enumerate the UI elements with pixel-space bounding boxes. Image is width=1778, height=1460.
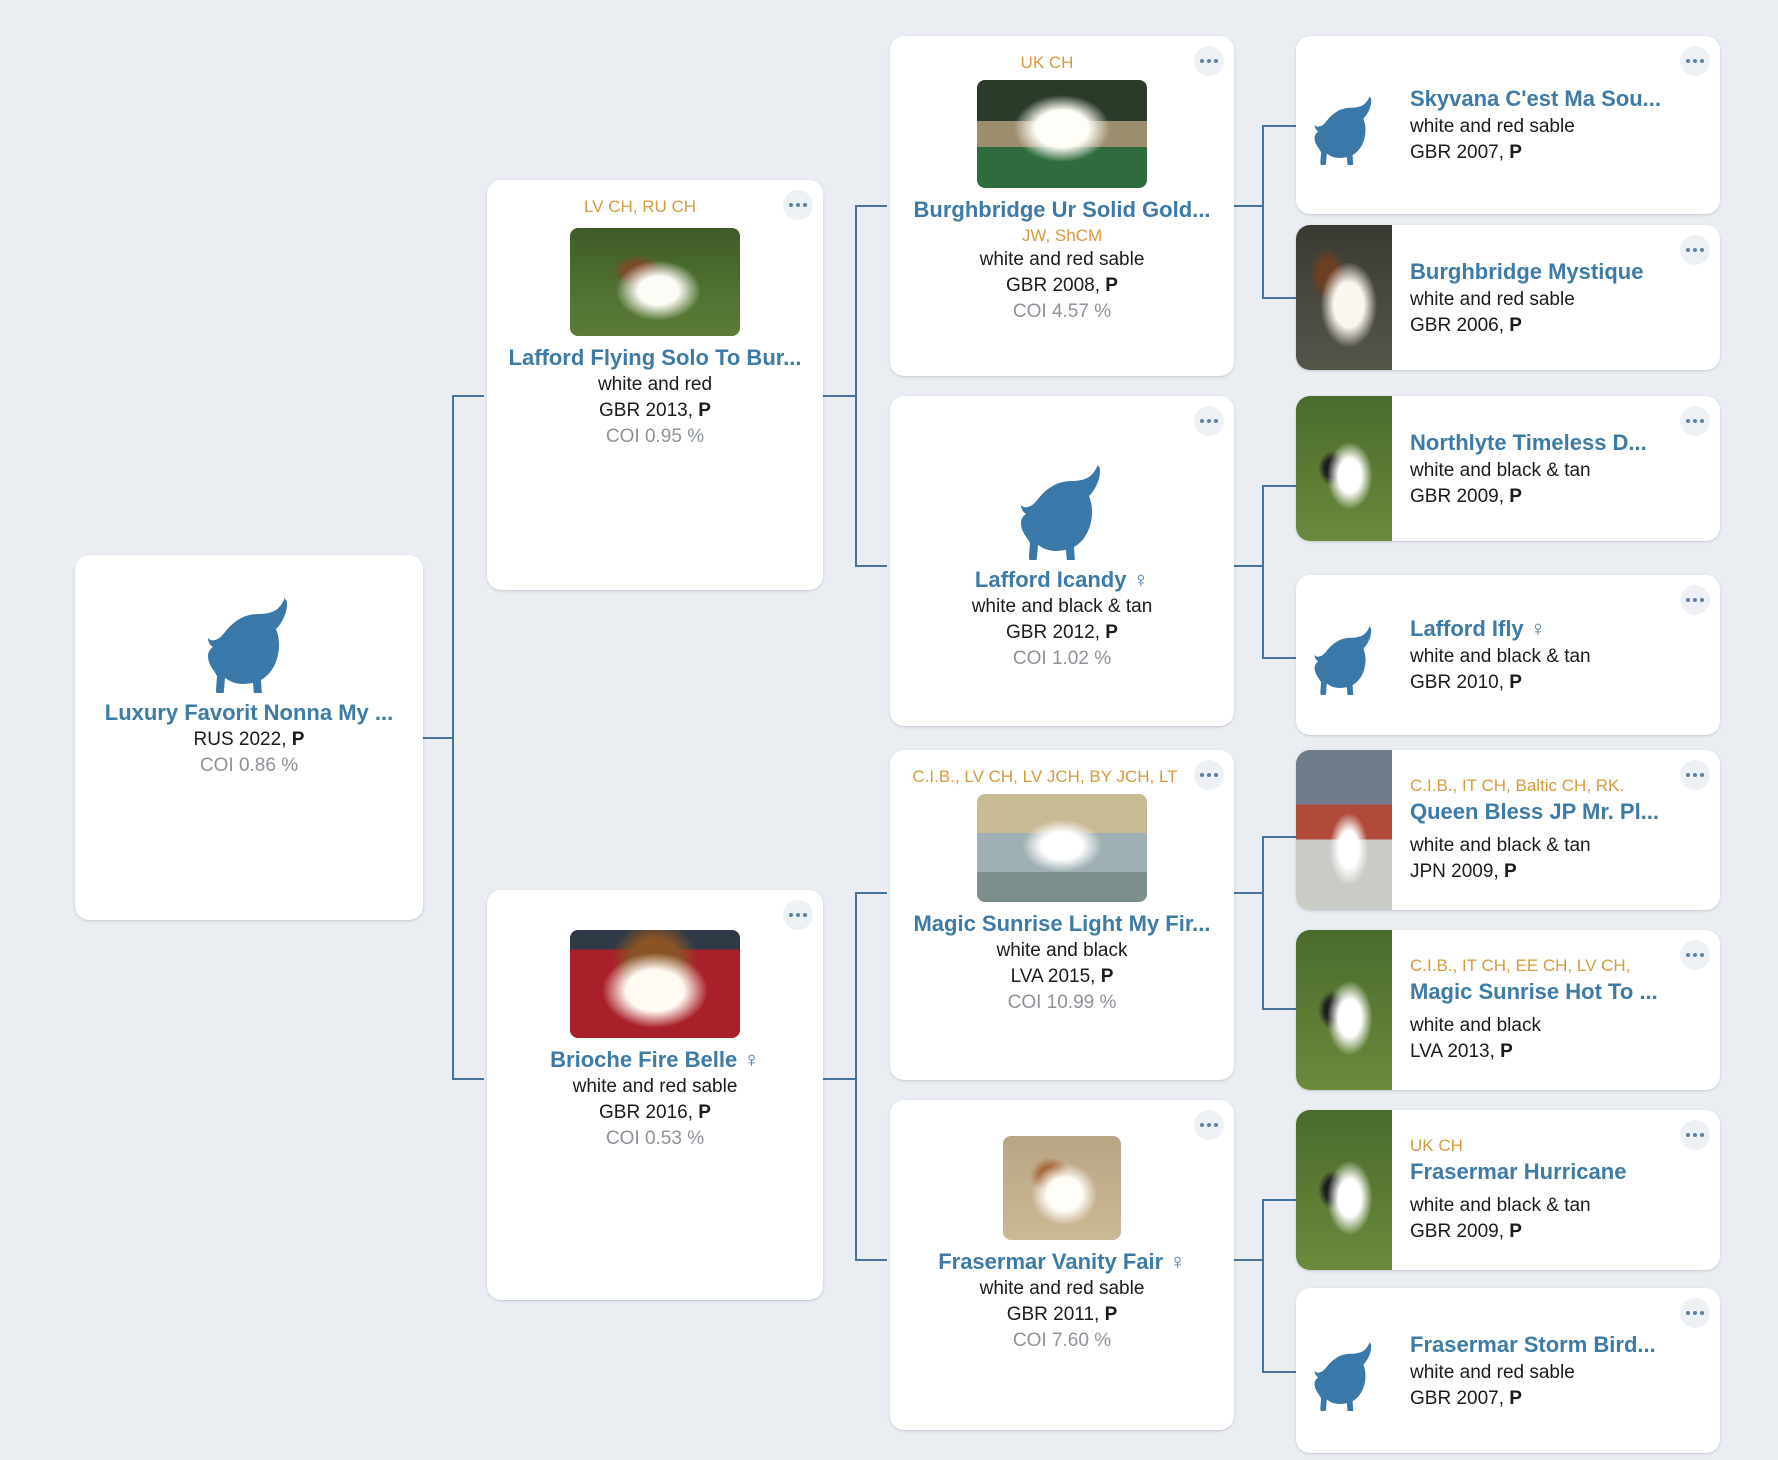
connector-g3-5-in [1262, 836, 1296, 838]
card-photo [1296, 930, 1392, 1090]
dog-silhouette-icon [1296, 575, 1392, 735]
card-titles: C.I.B., LV CH, LV JCH, BY JCH, LT [912, 764, 1211, 788]
connector-g3-1-in [1262, 125, 1296, 127]
female-symbol: ♀ [1530, 616, 1547, 641]
ellipsis-icon[interactable] [1194, 760, 1224, 790]
card-color: white and black & tan [972, 594, 1153, 620]
pedigree-card-gen3-3[interactable]: Northlyte Timeless D... white and black … [1296, 396, 1720, 541]
ellipsis-icon[interactable] [1680, 1120, 1710, 1150]
card-color: white and red sable [980, 247, 1145, 273]
connector-root-vert [452, 395, 454, 1079]
card-coi: COI 7.60 % [1013, 1328, 1111, 1354]
card-name[interactable]: Magic Sunrise Light My Fir... [913, 910, 1210, 938]
card-color: white and black & tan [1410, 1193, 1704, 1219]
card-coi: COI 0.95 % [606, 424, 704, 450]
connector-g2b-out [1234, 565, 1262, 567]
connector-g2d-split [1262, 1199, 1264, 1371]
card-origin: RUS 2022, P [194, 727, 305, 753]
card-coi: COI 0.86 % [200, 753, 298, 779]
card-name[interactable]: Northlyte Timeless D... [1410, 428, 1704, 458]
card-origin: GBR 2010, P [1410, 670, 1704, 696]
card-titles: C.I.B., IT CH, Baltic CH, RK. [1410, 775, 1704, 797]
card-origin: GBR 2006, P [1410, 313, 1704, 339]
pedigree-card-gen3-5[interactable]: C.I.B., IT CH, Baltic CH, RK. Queen Bles… [1296, 750, 1720, 910]
card-color: white and red sable [1410, 1360, 1704, 1386]
card-photo [1296, 1110, 1392, 1270]
card-name[interactable]: Lafford Ifly ♀ [1410, 614, 1704, 644]
dog-silhouette-icon [1002, 450, 1122, 560]
card-photo [1296, 396, 1392, 541]
card-name[interactable]: Lafford Icandy ♀ [975, 566, 1149, 594]
card-origin: GBR 2008, P [1006, 273, 1118, 299]
female-symbol: ♀ [1133, 567, 1150, 592]
card-origin: GBR 2009, P [1410, 1219, 1704, 1245]
connector-g1a-out [823, 395, 855, 397]
connector-g2d-in [855, 1259, 887, 1261]
pedigree-card-gen3-8[interactable]: Frasermar Storm Bird... white and red sa… [1296, 1288, 1720, 1453]
dog-silhouette-icon [1296, 36, 1392, 214]
card-color: white and red sable [1410, 287, 1704, 313]
card-origin: GBR 2013, P [599, 398, 711, 424]
ellipsis-icon[interactable] [1680, 46, 1710, 76]
connector-g2c-split [1262, 836, 1264, 1008]
ellipsis-icon[interactable] [1680, 585, 1710, 615]
connector-g3-8-in [1262, 1371, 1296, 1373]
card-photo [570, 930, 740, 1038]
connector-gen1-dam-in [452, 1078, 484, 1080]
connector-g2c-out [1234, 892, 1262, 894]
card-name[interactable]: Frasermar Storm Bird... [1410, 1330, 1704, 1360]
card-coi: COI 4.57 % [1013, 299, 1111, 325]
pedigree-card-root[interactable]: Luxury Favorit Nonna My ... RUS 2022, P … [75, 555, 423, 920]
pedigree-card-gen2-a[interactable]: UK CH Burghbridge Ur Solid Gold... JW, S… [890, 36, 1234, 376]
connector-g2c-in [855, 892, 887, 894]
pedigree-card-gen3-1[interactable]: Skyvana C'est Ma Sou... white and red sa… [1296, 36, 1720, 214]
pedigree-card-gen3-7[interactable]: UK CH Frasermar Hurricane white and blac… [1296, 1110, 1720, 1270]
ellipsis-icon[interactable] [1680, 760, 1710, 790]
connector-g2a-out [1234, 205, 1262, 207]
card-color: white and black [997, 938, 1128, 964]
connector-g3-6-in [1262, 1008, 1296, 1010]
ellipsis-icon[interactable] [1194, 1110, 1224, 1140]
card-name[interactable]: Luxury Favorit Nonna My ... [105, 699, 393, 727]
pedigree-card-gen1-sire[interactable]: LV CH, RU CH Lafford Flying Solo To Bur.… [487, 180, 823, 590]
connector-gen1-sire-in [452, 395, 484, 397]
card-photo [1003, 1136, 1121, 1240]
card-name[interactable]: Skyvana C'est Ma Sou... [1410, 84, 1704, 114]
dog-silhouette-icon [1296, 1288, 1392, 1453]
female-symbol: ♀ [743, 1047, 760, 1072]
card-origin: LVA 2013, P [1410, 1039, 1704, 1065]
card-titles: UK CH [1410, 1135, 1704, 1157]
connector-g3-3-in [1262, 485, 1296, 487]
card-color: white and red [598, 372, 712, 398]
connector-g1a-vert [855, 205, 857, 565]
ellipsis-icon[interactable] [1680, 235, 1710, 265]
connector-g1b-out [823, 1078, 855, 1080]
pedigree-card-gen2-c[interactable]: C.I.B., LV CH, LV JCH, BY JCH, LT Magic … [890, 750, 1234, 1080]
female-symbol: ♀ [1169, 1249, 1186, 1274]
card-origin: GBR 2011, P [1007, 1302, 1118, 1328]
dog-silhouette-icon [189, 583, 309, 693]
card-color: white and red sable [573, 1074, 738, 1100]
card-name[interactable]: Frasermar Hurricane [1410, 1157, 1704, 1187]
card-origin: GBR 2016, P [599, 1100, 711, 1126]
pedigree-card-gen3-6[interactable]: C.I.B., IT CH, EE CH, LV CH, Magic Sunri… [1296, 930, 1720, 1090]
connector-g3-7-in [1262, 1199, 1296, 1201]
card-origin: GBR 2007, P [1410, 140, 1704, 166]
card-name[interactable]: Brioche Fire Belle ♀ [550, 1046, 760, 1074]
card-name[interactable]: Magic Sunrise Hot To ... [1410, 977, 1704, 1007]
ellipsis-icon[interactable] [783, 900, 813, 930]
card-coi: COI 0.53 % [606, 1126, 704, 1152]
card-name[interactable]: Queen Bless JP Mr. Pl... [1410, 797, 1704, 827]
card-name[interactable]: Burghbridge Mystique [1410, 257, 1704, 287]
ellipsis-icon[interactable] [1194, 46, 1224, 76]
card-photo [977, 794, 1147, 902]
ellipsis-icon[interactable] [783, 190, 813, 220]
ellipsis-icon[interactable] [1194, 406, 1224, 436]
card-color: white and black & tan [1410, 833, 1704, 859]
card-photo [1296, 225, 1392, 370]
pedigree-card-gen1-dam[interactable]: Brioche Fire Belle ♀ white and red sable… [487, 890, 823, 1300]
connector-g3-2-in [1262, 297, 1296, 299]
card-origin: LVA 2015, P [1011, 964, 1114, 990]
card-color: white and black & tan [1410, 644, 1704, 670]
card-color: white and black & tan [1410, 458, 1704, 484]
pedigree-card-gen2-d[interactable]: Frasermar Vanity Fair ♀ white and red sa… [890, 1100, 1234, 1430]
card-origin: GBR 2012, P [1006, 620, 1118, 646]
card-origin: GBR 2007, P [1410, 1386, 1704, 1412]
connector-g2b-in [855, 565, 887, 567]
card-titles: C.I.B., IT CH, EE CH, LV CH, [1410, 955, 1704, 977]
card-name[interactable]: Frasermar Vanity Fair ♀ [938, 1248, 1186, 1276]
card-name[interactable]: Lafford Flying Solo To Bur... [509, 344, 802, 372]
connector-g3-4-in [1262, 657, 1296, 659]
card-origin: GBR 2009, P [1410, 484, 1704, 510]
card-origin: JPN 2009, P [1410, 859, 1704, 885]
card-color: white and red sable [1410, 114, 1704, 140]
card-color: white and black [1410, 1013, 1704, 1039]
card-color: white and red sable [980, 1276, 1145, 1302]
pedigree-card-gen3-2[interactable]: Burghbridge Mystique white and red sable… [1296, 225, 1720, 370]
connector-g2a-in [855, 205, 887, 207]
connector-g2d-out [1234, 1259, 1262, 1261]
ellipsis-icon[interactable] [1680, 1298, 1710, 1328]
card-subtitles: JW, ShCM [1022, 224, 1102, 247]
pedigree-chart: Luxury Favorit Nonna My ... RUS 2022, P … [0, 0, 1778, 1460]
card-photo [1296, 750, 1392, 910]
card-coi: COI 1.02 % [1013, 646, 1111, 672]
pedigree-card-gen3-4[interactable]: Lafford Ifly ♀ white and black & tan GBR… [1296, 575, 1720, 735]
card-titles [640, 904, 670, 906]
ellipsis-icon[interactable] [1680, 406, 1710, 436]
connector-g1b-vert [855, 892, 857, 1259]
card-titles: LV CH, RU CH [584, 194, 726, 218]
connector-root-out [420, 737, 452, 739]
card-coi: COI 10.99 % [1008, 990, 1117, 1016]
card-photo [977, 80, 1147, 188]
card-titles: UK CH [1021, 50, 1104, 74]
ellipsis-icon[interactable] [1680, 940, 1710, 970]
card-photo [570, 228, 740, 336]
connector-g2b-split [1262, 485, 1264, 657]
pedigree-card-gen2-b[interactable]: Lafford Icandy ♀ white and black & tan G… [890, 396, 1234, 726]
card-name[interactable]: Burghbridge Ur Solid Gold... [914, 196, 1211, 224]
connector-g2a-split [1262, 125, 1264, 297]
